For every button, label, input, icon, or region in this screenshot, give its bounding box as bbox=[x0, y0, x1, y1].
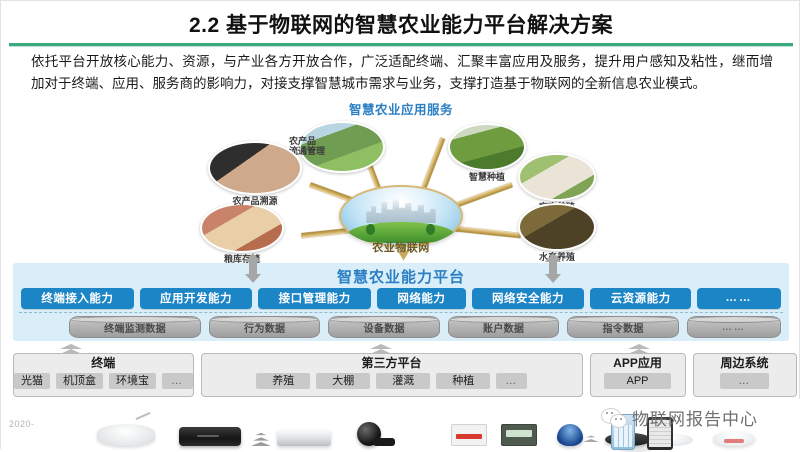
up-down-arrow-right bbox=[545, 253, 561, 283]
capability-platform-band: 智慧农业能力平台 终端接入能力 应用开发能力 接口管理能力 网络能力 网络安全能… bbox=[13, 263, 789, 341]
group-app-applications: APP应用 APP bbox=[590, 353, 686, 397]
group-peripheral-systems: 周边系统 … bbox=[693, 353, 797, 397]
chip-breeding[interactable]: 养殖 bbox=[256, 373, 310, 389]
chip-more[interactable]: … bbox=[496, 373, 527, 389]
city-skyline-icon bbox=[366, 197, 435, 223]
watermark-text: 物联网报告中心 bbox=[632, 405, 758, 430]
diagram-heading: 智慧农业应用服务 bbox=[181, 99, 621, 118]
slide-title-bar: 2.2 基于物联网的智慧农业能力平台解决方案 bbox=[1, 7, 800, 41]
datastore-label: 指令数据 bbox=[602, 320, 643, 335]
group-chips: … bbox=[720, 373, 769, 389]
intro-paragraph: 依托平台开放核心能力、资源，与产业各方开放合作，广泛适配终端、汇聚丰富应用及服务… bbox=[31, 51, 773, 95]
fish-photo-icon bbox=[518, 203, 596, 251]
router-photo-icon bbox=[97, 424, 155, 446]
platform-title: 智慧农业能力平台 bbox=[13, 266, 789, 287]
title-divider-shadow bbox=[9, 46, 793, 47]
datastore-label: 账户数据 bbox=[483, 320, 524, 335]
page-marker: 2020- bbox=[9, 419, 35, 429]
chip-optical-modem[interactable]: 光猫 bbox=[14, 373, 50, 389]
node-smart-planting: 智慧种植 bbox=[447, 123, 527, 182]
group-chips: APP bbox=[604, 373, 670, 389]
datastore-more[interactable]: …… bbox=[687, 316, 781, 338]
datastore-label: 设备数据 bbox=[364, 320, 405, 335]
datastore-label: 行为数据 bbox=[244, 320, 285, 335]
datastore-device[interactable]: 设备数据 bbox=[328, 316, 439, 338]
capability-more[interactable]: …… bbox=[697, 288, 781, 309]
blue-sensor-photo-icon bbox=[557, 424, 583, 446]
grain-photo-icon bbox=[200, 203, 284, 253]
group-chips: 养殖 大棚 灌溉 种植 … bbox=[256, 373, 527, 389]
group-chips: 光猫 机顶盒 环境宝 … bbox=[14, 373, 193, 389]
node-label: 农产品溯源 bbox=[207, 196, 303, 206]
application-service-diagram: 智慧农业应用服务 农业物联网 bbox=[181, 99, 621, 257]
controller-module-photo-icon bbox=[501, 424, 537, 446]
qr-scan-photo-icon bbox=[208, 141, 302, 195]
chip-planting[interactable]: 种植 bbox=[436, 373, 490, 389]
chip-more[interactable]: … bbox=[720, 373, 769, 389]
node-grain-storage: 粮库存储 bbox=[199, 203, 285, 264]
wechat-icon bbox=[601, 408, 627, 428]
datastore-command[interactable]: 指令数据 bbox=[567, 316, 678, 338]
data-store-list: 终端监测数据 行为数据 设备数据 账户数据 指令数据 …… bbox=[69, 316, 781, 338]
tier-arrow-up-icon bbox=[370, 344, 392, 353]
tree-icon bbox=[426, 224, 435, 235]
capability-interface-management[interactable]: 接口管理能力 bbox=[258, 288, 371, 309]
tree-icon bbox=[366, 224, 375, 235]
sensor-module-photo-icon bbox=[451, 424, 487, 446]
capability-app-development[interactable]: 应用开发能力 bbox=[140, 288, 253, 309]
chip-more[interactable]: … bbox=[162, 373, 193, 389]
chip-set-top-box[interactable]: 机顶盒 bbox=[56, 373, 103, 389]
set-top-box-photo-icon bbox=[179, 427, 241, 446]
slide-root: 2.2 基于物联网的智慧农业能力平台解决方案 依托平台开放核心能力、资源，与产业… bbox=[0, 0, 800, 449]
field-photo-icon bbox=[448, 123, 526, 171]
group-third-party-platform: 第三方平台 养殖 大棚 灌溉 种植 … bbox=[201, 353, 583, 397]
gateway-bar-photo-icon bbox=[277, 429, 331, 446]
tier-arrow-up-icon bbox=[60, 344, 82, 353]
up-down-arrow-left bbox=[245, 253, 261, 283]
bottom-tier: 终端 光猫 机顶盒 环境宝 … 第三方平台 养殖 大棚 灌溉 种植 … APP应… bbox=[13, 353, 789, 397]
capability-terminal-access[interactable]: 终端接入能力 bbox=[21, 288, 134, 309]
capability-cloud-resource[interactable]: 云资源能力 bbox=[590, 288, 691, 309]
group-title: 第三方平台 bbox=[361, 356, 421, 371]
tier-arrow-up-icon bbox=[628, 344, 650, 353]
node-label: 智慧种植 bbox=[447, 172, 527, 182]
group-title: 终端 bbox=[91, 356, 115, 371]
camera-photo-icon bbox=[357, 422, 381, 446]
datastore-terminal-monitoring[interactable]: 终端监测数据 bbox=[69, 316, 201, 338]
platform-dashed-separator bbox=[19, 312, 783, 313]
datastore-account[interactable]: 账户数据 bbox=[448, 316, 559, 338]
pig-photo-icon bbox=[518, 153, 596, 201]
smoke-detector-photo-icon bbox=[713, 431, 755, 446]
capability-list: 终端接入能力 应用开发能力 接口管理能力 网络能力 网络安全能力 云资源能力 …… bbox=[21, 287, 781, 309]
datastore-label: 终端监测数据 bbox=[104, 320, 166, 335]
page-title: 2.2 基于物联网的智慧农业能力平台解决方案 bbox=[189, 9, 613, 39]
capability-network-security[interactable]: 网络安全能力 bbox=[472, 288, 585, 309]
capability-network[interactable]: 网络能力 bbox=[377, 288, 466, 309]
node-product-traceability: 农产品溯源 bbox=[207, 141, 303, 206]
group-title: 周边系统 bbox=[720, 356, 768, 371]
group-terminals: 终端 光猫 机顶盒 环境宝 … bbox=[13, 353, 194, 397]
datastore-label: …… bbox=[722, 322, 746, 333]
datastore-behavior[interactable]: 行为数据 bbox=[209, 316, 320, 338]
chip-greenhouse[interactable]: 大棚 bbox=[316, 373, 370, 389]
group-title: APP应用 bbox=[613, 356, 662, 371]
chip-irrigation[interactable]: 灌溉 bbox=[376, 373, 430, 389]
chip-environment-box[interactable]: 环境宝 bbox=[109, 373, 156, 389]
wifi-signal-icon bbox=[583, 435, 599, 446]
chip-app[interactable]: APP bbox=[604, 373, 670, 389]
wifi-signal-icon bbox=[251, 432, 271, 446]
watermark: 物联网报告中心 bbox=[601, 405, 758, 430]
hub-agricultural-iot bbox=[339, 185, 463, 247]
